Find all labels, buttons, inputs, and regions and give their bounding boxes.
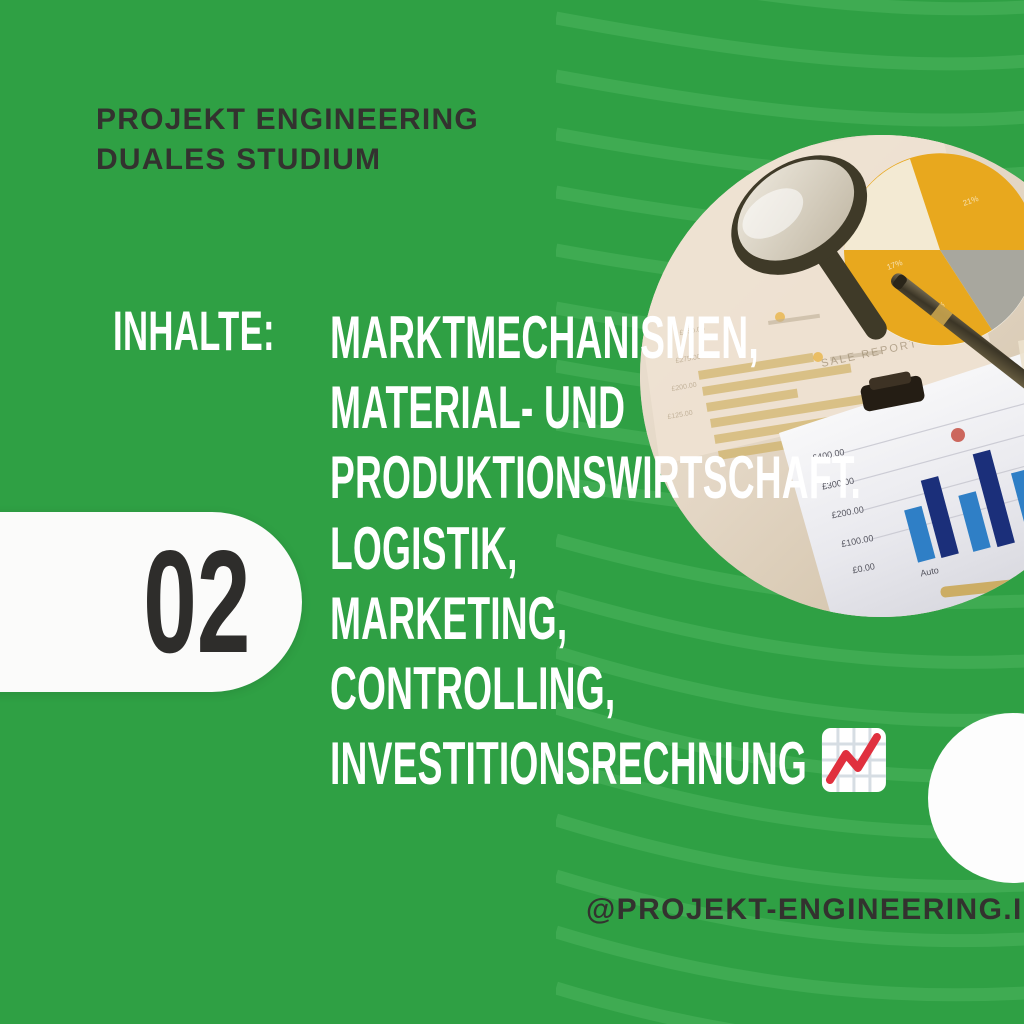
headline-line: LOGISTIK, xyxy=(330,514,1024,584)
headline-line: CONTROLLING, xyxy=(330,654,1024,724)
chart-increasing-icon xyxy=(818,724,890,796)
headline-line: PRODUKTIONSWIRTSCHAFT. xyxy=(330,443,1024,513)
headline-line: MARKTMECHANISMEN, xyxy=(330,303,1024,373)
page-title-line-1: PROJEKT ENGINEERING xyxy=(96,100,636,140)
step-number: 02 xyxy=(143,529,250,675)
content-headline: MARKTMECHANISMEN, MATERIAL- UND PRODUKTI… xyxy=(330,303,1024,799)
content-label: INHALTE: xyxy=(113,303,275,359)
page-title: PROJEKT ENGINEERING DUALES STUDIUM xyxy=(96,100,636,180)
page-title-line-2: DUALES STUDIUM xyxy=(96,140,636,180)
headline-line: MARKETING, xyxy=(330,584,1024,654)
headline-line: INVESTITIONSRECHNUNG xyxy=(330,730,807,797)
social-handle: @PROJEKT-ENGINEERING.INFO xyxy=(586,893,1024,927)
headline-line: MATERIAL- UND xyxy=(330,373,1024,443)
poster-canvas: £350.00 £275.00 £200.00 £125.00 SALE REP… xyxy=(0,0,1024,1024)
step-number-badge: 02 xyxy=(0,512,302,692)
